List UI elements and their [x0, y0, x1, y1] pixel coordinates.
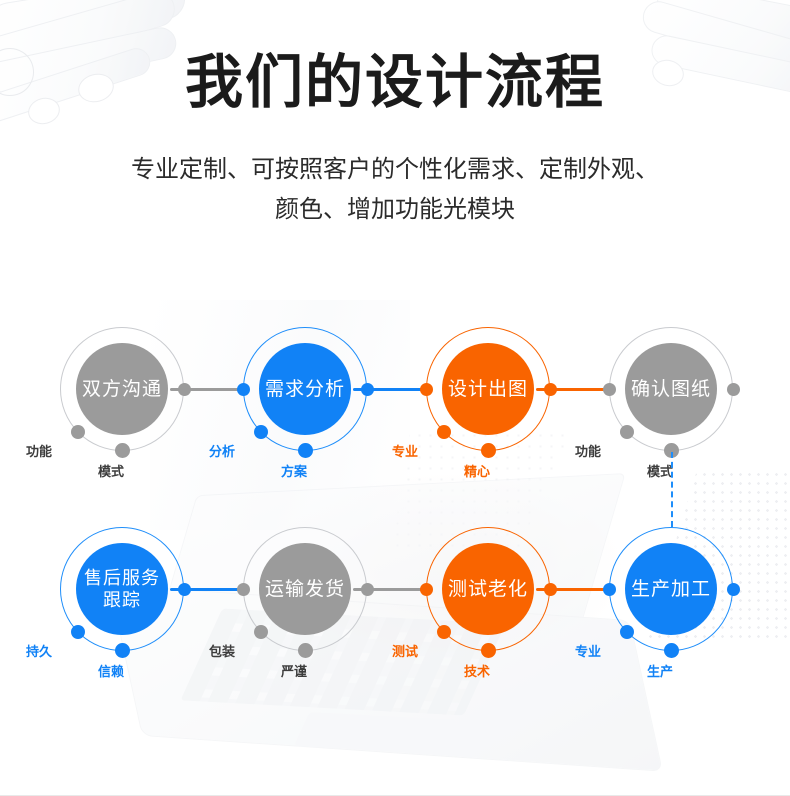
node-label: 双方沟通 [76, 343, 168, 435]
node-dot-right [727, 583, 740, 596]
node-dot-lower-left [620, 625, 634, 639]
node-dot-bottom [481, 643, 496, 658]
node-dot-right [361, 383, 374, 396]
design-process-infographic: 我们的设计流程 专业定制、可按照客户的个性化需求、定制外观、 颜色、增加功能光模… [0, 0, 790, 796]
node-label: 售后服务跟踪 [76, 543, 168, 635]
node-dot-left [237, 583, 250, 596]
node-dot-left [603, 583, 616, 596]
node-dot-lower-left [71, 425, 85, 439]
node-label: 测试老化 [442, 543, 534, 635]
node-tag-bottom: 方案 [281, 461, 307, 480]
node-dot-lower-left [71, 625, 85, 639]
node-dot-bottom [298, 643, 313, 658]
process-node-运输发货[interactable]: 运输发货 包装 严谨 [243, 527, 367, 651]
node-tag-bottom: 信赖 [98, 661, 124, 680]
process-node-需求分析[interactable]: 需求分析 分析 方案 [243, 327, 367, 451]
node-label: 确认图纸 [625, 343, 717, 435]
node-dot-right [361, 583, 374, 596]
process-node-双方沟通[interactable]: 双方沟通 功能 模式 [60, 327, 184, 451]
node-tag-left: 包装 [209, 641, 235, 660]
node-dot-right [178, 383, 191, 396]
node-tag-left: 分析 [209, 441, 235, 460]
process-node-确认图纸[interactable]: 确认图纸 功能 模式 [609, 327, 733, 451]
node-tag-left: 功能 [26, 441, 52, 460]
node-tag-bottom: 生产 [647, 661, 673, 680]
node-dot-lower-left [437, 425, 451, 439]
node-dot-lower-left [254, 425, 268, 439]
node-dot-bottom [481, 443, 496, 458]
node-dot-left [420, 383, 433, 396]
node-dot-bottom [115, 643, 130, 658]
process-node-生产加工[interactable]: 生产加工 专业 生产 [609, 527, 733, 651]
node-dot-right [727, 383, 740, 396]
node-dot-bottom [298, 443, 313, 458]
node-dot-right [178, 583, 191, 596]
node-dot-right [544, 383, 557, 396]
process-flow-diagram: 双方沟通 功能 模式 需求分析 分析 方案 设计出图 专业 精心 [0, 0, 790, 796]
node-tag-left: 功能 [575, 441, 601, 460]
node-tag-left: 测试 [392, 641, 418, 660]
node-tag-bottom: 精心 [464, 461, 490, 480]
node-tag-bottom: 模式 [98, 461, 124, 480]
node-dot-left [603, 383, 616, 396]
node-dot-left [420, 583, 433, 596]
node-tag-left: 持久 [26, 641, 52, 660]
process-node-设计出图[interactable]: 设计出图 专业 精心 [426, 327, 550, 451]
node-tag-bottom: 技术 [464, 661, 490, 680]
node-tag-left: 专业 [575, 641, 601, 660]
node-dot-lower-left [437, 625, 451, 639]
process-node-售后服务跟踪[interactable]: 售后服务跟踪 持久 信赖 [60, 527, 184, 651]
node-dot-right [544, 583, 557, 596]
node-dot-bottom [115, 443, 130, 458]
node-tag-bottom: 严谨 [281, 661, 307, 680]
node-dot-lower-left [254, 625, 268, 639]
node-tag-left: 专业 [392, 441, 418, 460]
row-transition-dashed-connector [671, 452, 673, 527]
node-label: 生产加工 [625, 543, 717, 635]
node-dot-bottom [664, 643, 679, 658]
node-tag-bottom: 模式 [647, 461, 673, 480]
process-node-测试老化[interactable]: 测试老化 测试 技术 [426, 527, 550, 651]
node-dot-lower-left [620, 425, 634, 439]
node-label: 设计出图 [442, 343, 534, 435]
node-dot-left [237, 383, 250, 396]
node-label: 运输发货 [259, 543, 351, 635]
node-label: 需求分析 [259, 343, 351, 435]
